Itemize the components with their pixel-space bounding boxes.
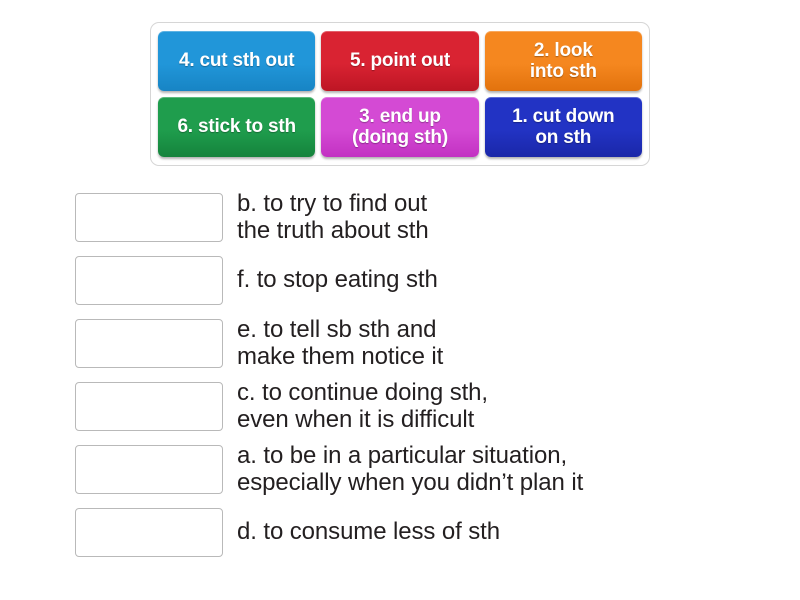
drop-slot-f[interactable] — [75, 256, 223, 305]
tile-label: 3. end up (doing sth) — [352, 106, 448, 149]
answer-row: a. to be in a particular situation, espe… — [75, 438, 735, 501]
draggable-tile-1[interactable]: 1. cut down on sth — [485, 97, 642, 157]
answer-definition-f: f. to stop eating sth — [237, 267, 438, 294]
tile-bank: 4. cut sth out 5. point out 2. look into… — [150, 22, 650, 166]
tile-label: 6. stick to sth — [177, 116, 295, 137]
drop-slot-c[interactable] — [75, 382, 223, 431]
tile-grid: 4. cut sth out 5. point out 2. look into… — [158, 31, 642, 157]
answer-row: e. to tell sb sth and make them notice i… — [75, 312, 735, 375]
drop-slot-d[interactable] — [75, 508, 223, 557]
answer-definition-d: d. to consume less of sth — [237, 519, 500, 546]
answer-definition-a: a. to be in a particular situation, espe… — [237, 443, 583, 497]
answer-list: b. to try to find out the truth about st… — [75, 186, 735, 564]
tile-label: 4. cut sth out — [179, 50, 294, 71]
draggable-tile-2[interactable]: 2. look into sth — [485, 31, 642, 91]
drop-slot-e[interactable] — [75, 319, 223, 368]
answer-row: b. to try to find out the truth about st… — [75, 186, 735, 249]
drop-slot-b[interactable] — [75, 193, 223, 242]
draggable-tile-5[interactable]: 5. point out — [321, 31, 478, 91]
drop-slot-a[interactable] — [75, 445, 223, 494]
answer-row: d. to consume less of sth — [75, 501, 735, 564]
draggable-tile-3[interactable]: 3. end up (doing sth) — [321, 97, 478, 157]
answer-row: c. to continue doing sth, even when it i… — [75, 375, 735, 438]
draggable-tile-6[interactable]: 6. stick to sth — [158, 97, 315, 157]
answer-definition-c: c. to continue doing sth, even when it i… — [237, 380, 488, 434]
tile-label: 1. cut down on sth — [512, 106, 614, 149]
tile-label: 5. point out — [350, 50, 450, 71]
answer-row: f. to stop eating sth — [75, 249, 735, 312]
answer-definition-b: b. to try to find out the truth about st… — [237, 191, 429, 245]
draggable-tile-4[interactable]: 4. cut sth out — [158, 31, 315, 91]
answer-definition-e: e. to tell sb sth and make them notice i… — [237, 317, 443, 371]
tile-label: 2. look into sth — [530, 40, 597, 83]
